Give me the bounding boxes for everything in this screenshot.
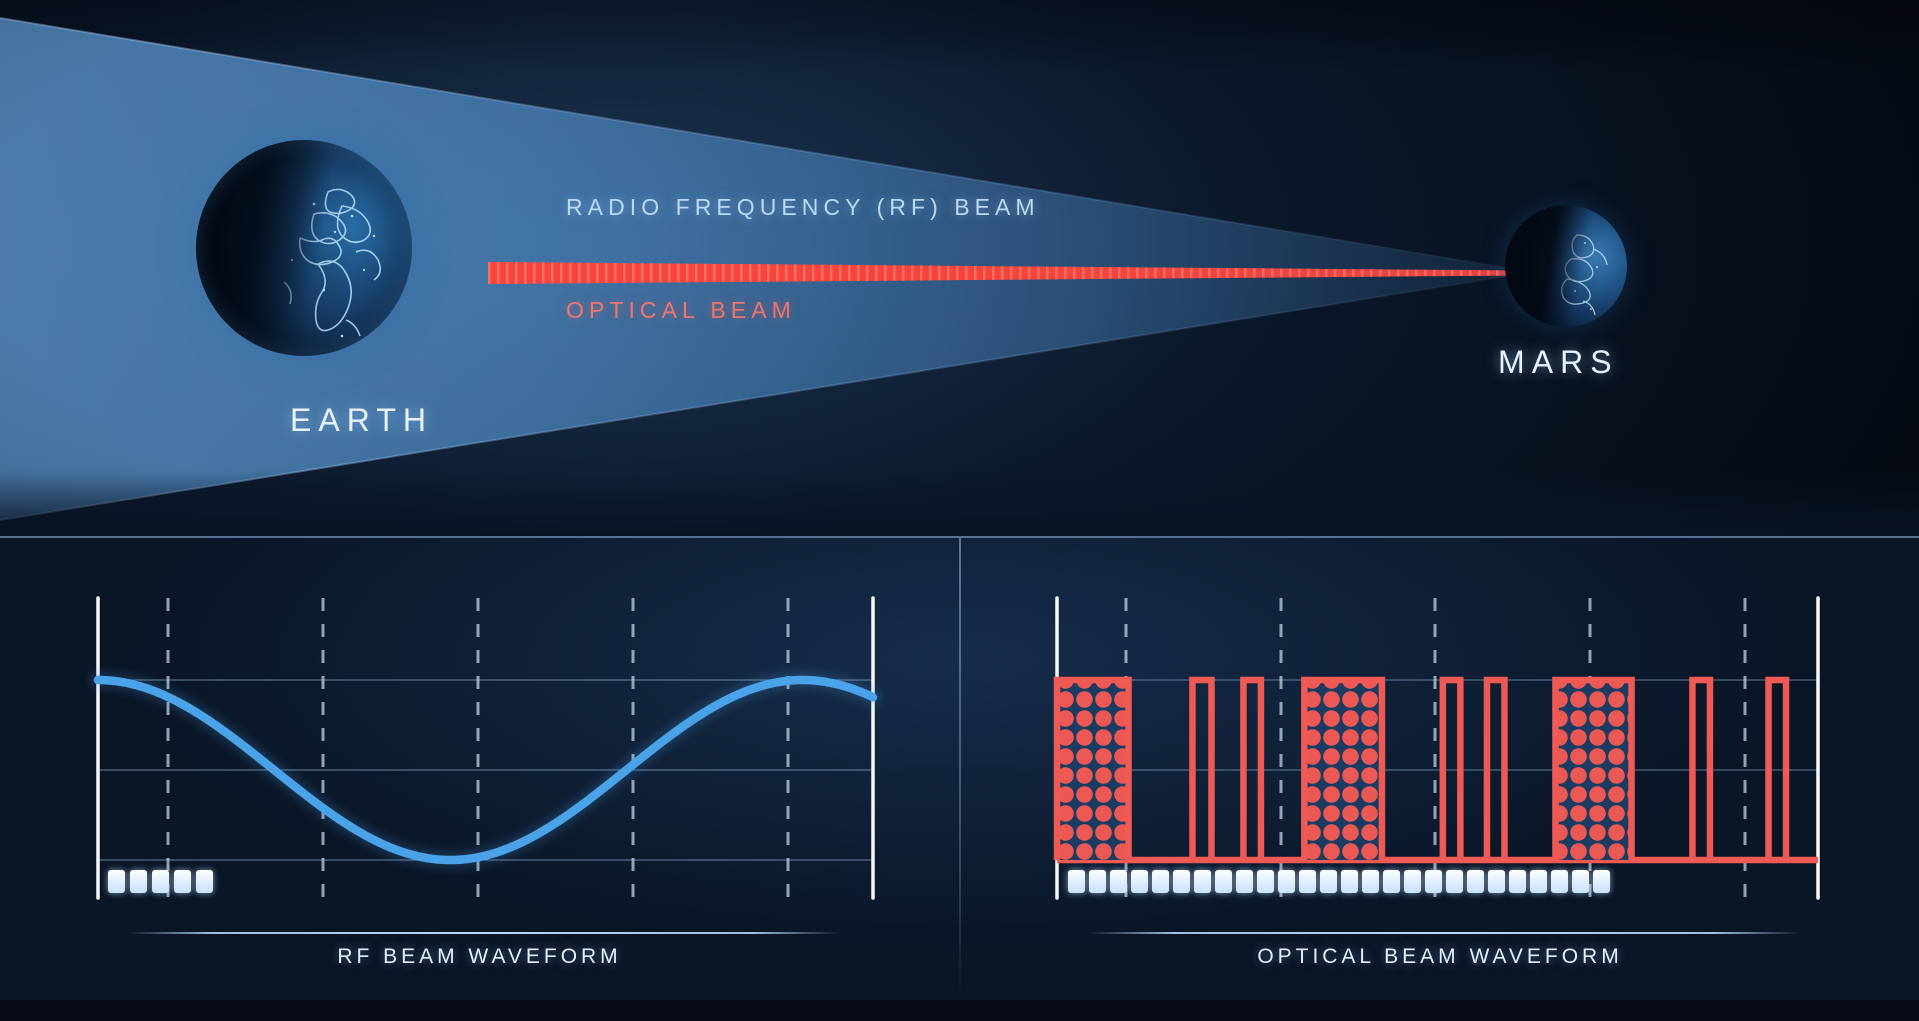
bit-block xyxy=(1404,870,1421,893)
optical-caption-rule xyxy=(1088,932,1801,934)
bit-block xyxy=(1530,870,1547,893)
bit-block xyxy=(1257,870,1274,893)
bit-block xyxy=(1068,870,1085,893)
earth-rim-light xyxy=(196,140,412,356)
bit-block xyxy=(1509,870,1526,893)
mars-label: MARS xyxy=(1498,344,1619,381)
bit-block xyxy=(1236,870,1253,893)
bit-block xyxy=(1467,870,1484,893)
bit-block xyxy=(1488,870,1505,893)
bit-block xyxy=(1572,870,1589,893)
bit-block xyxy=(1110,870,1127,893)
bit-block xyxy=(196,870,213,893)
earth-label: EARTH xyxy=(290,402,433,439)
bit-block xyxy=(1173,870,1190,893)
filled-pulse-3 xyxy=(1304,680,1382,860)
rf-waveform-caption: RF BEAM WAVEFORM xyxy=(0,945,959,969)
rf-bitstream xyxy=(108,870,213,893)
earth-globe xyxy=(196,140,412,356)
bit-block xyxy=(1152,870,1169,893)
pulse-dot-fill xyxy=(1057,680,1129,860)
diagram-root: RADIO FREQUENCY (RF) BEAM OPTICAL BEAM E… xyxy=(0,0,1919,1021)
pulse-dot-fill xyxy=(1304,680,1382,860)
mars-terminator xyxy=(1505,205,1627,327)
bit-block xyxy=(152,870,169,893)
optical-bitstream xyxy=(1068,870,1610,893)
bit-block xyxy=(1299,870,1316,893)
bit-block xyxy=(1383,870,1400,893)
bit-block xyxy=(1089,870,1106,893)
optical-beam-waveform-chart xyxy=(961,538,1919,958)
bit-block xyxy=(1320,870,1337,893)
bit-block xyxy=(1131,870,1148,893)
bit-block xyxy=(174,870,191,893)
bit-block xyxy=(130,870,147,893)
scene-top-shadow xyxy=(0,0,1919,70)
rf-beam-waveform-chart xyxy=(0,538,959,958)
optical-waveform-caption: OPTICAL BEAM WAVEFORM xyxy=(961,945,1919,969)
bit-block xyxy=(1215,870,1232,893)
rf-beam-label: RADIO FREQUENCY (RF) BEAM xyxy=(566,194,1040,221)
laser-glow xyxy=(488,266,1508,280)
rf-caption-rule xyxy=(126,932,839,934)
filled-pulse-0 xyxy=(1057,680,1129,860)
bit-block xyxy=(1362,870,1379,893)
bottom-letterbox-bar xyxy=(0,1000,1919,1021)
optical-beam-label: OPTICAL BEAM xyxy=(566,297,796,324)
pulse-dot-fill xyxy=(1555,680,1631,860)
bit-block xyxy=(1425,870,1442,893)
bit-block xyxy=(1593,870,1610,893)
bit-block xyxy=(1278,870,1295,893)
scene-bottom-fade xyxy=(0,470,1919,536)
mars-globe xyxy=(1505,205,1627,327)
laser-core xyxy=(488,262,1508,284)
bit-block xyxy=(1551,870,1568,893)
space-scene: RADIO FREQUENCY (RF) BEAM OPTICAL BEAM E… xyxy=(0,0,1919,536)
optical-laser-beam xyxy=(488,262,1508,284)
bit-block xyxy=(108,870,125,893)
bit-block xyxy=(1194,870,1211,893)
bit-block xyxy=(1341,870,1358,893)
filled-pulse-6 xyxy=(1555,680,1631,860)
bit-block xyxy=(1446,870,1463,893)
